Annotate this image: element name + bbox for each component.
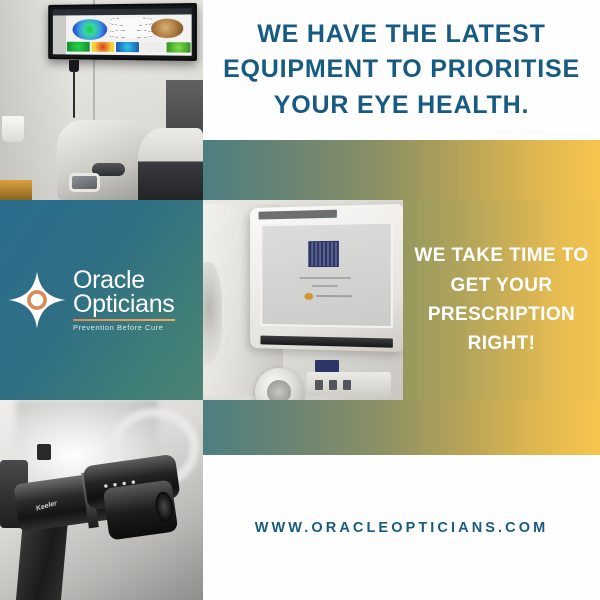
adjustment-knob: [37, 444, 51, 460]
software-titlebar: [53, 8, 192, 16]
brand-underline: [73, 319, 175, 321]
photo-zeiss-device: [203, 200, 403, 400]
software-sidebar: [53, 16, 66, 55]
lens-housing: [203, 262, 222, 366]
page-title: WE HAVE THE LATEST EQUIPMENT TO PRIORITI…: [203, 17, 600, 124]
subhead-panel: WE TAKE TIME TO GET YOUR PRESCRIPTION RI…: [403, 200, 600, 400]
wooden-box: [0, 180, 32, 200]
monitor-cable: [73, 70, 75, 118]
scan-thumbnails: [67, 42, 190, 53]
thumbnail: [91, 42, 113, 52]
headline-panel: WE HAVE THE LATEST EQUIPMENT TO PRIORITI…: [203, 0, 600, 140]
brand-tagline: Prevention Before Cure: [73, 323, 175, 332]
thumbnail: [140, 42, 164, 52]
paper-cup: [2, 116, 24, 142]
gradient-band-top: [203, 140, 600, 200]
zeiss-badge-icon: [315, 360, 339, 372]
chin-rest: [138, 128, 203, 200]
device-brand-strip: [259, 210, 337, 219]
brand-name-line2: Opticians: [73, 292, 175, 316]
thumbnail: [67, 42, 89, 52]
photo-clinic-room: [0, 0, 203, 200]
brand-name-line1: Oracle: [73, 268, 175, 292]
instrument-display: [69, 173, 100, 192]
screen-text-line: [300, 277, 351, 279]
gradient-band-bottom: [203, 400, 600, 455]
brand-lockup: Oracle Opticians Prevention Before Cure: [6, 268, 175, 332]
device-screen: [260, 222, 393, 328]
thumbnail: [115, 42, 138, 52]
brand-wordmark: Oracle Opticians Prevention Before Cure: [73, 268, 175, 332]
monitor-screen: [53, 8, 192, 56]
fundus-image: [151, 19, 183, 38]
screen-status-indicator: [305, 293, 314, 300]
zeiss-logo-icon: [308, 241, 339, 267]
device-monitor: [250, 204, 403, 352]
monitor-bezel: [260, 336, 393, 348]
joystick-center: [267, 380, 292, 400]
thumbnail: [166, 42, 190, 53]
website-url[interactable]: WWW.ORACLEOPTICIANS.COM: [255, 520, 549, 536]
control-button: [315, 380, 323, 390]
footer-panel: WWW.ORACLEOPTICIANS.COM: [203, 455, 600, 600]
subhead-text: WE TAKE TIME TO GET YOUR PRESCRIPTION RI…: [403, 241, 600, 359]
photo-slit-lamp: Keeler: [0, 400, 203, 600]
control-button: [329, 380, 337, 390]
screen-text-line: [312, 285, 338, 287]
topography-cross-section: [110, 18, 152, 39]
keeler-brand-label: Keeler: [36, 498, 65, 510]
four-point-star-icon: [6, 269, 68, 331]
promo-poster: WE HAVE THE LATEST EQUIPMENT TO PRIORITI…: [0, 0, 600, 600]
control-button: [343, 380, 351, 390]
wall-monitor: [48, 3, 197, 61]
screen-text-line: [316, 295, 352, 297]
logo-panel: Oracle Opticians Prevention Before Cure: [0, 200, 203, 400]
topography-map-color: [72, 19, 107, 40]
eyepiece-aperture: [154, 491, 174, 522]
